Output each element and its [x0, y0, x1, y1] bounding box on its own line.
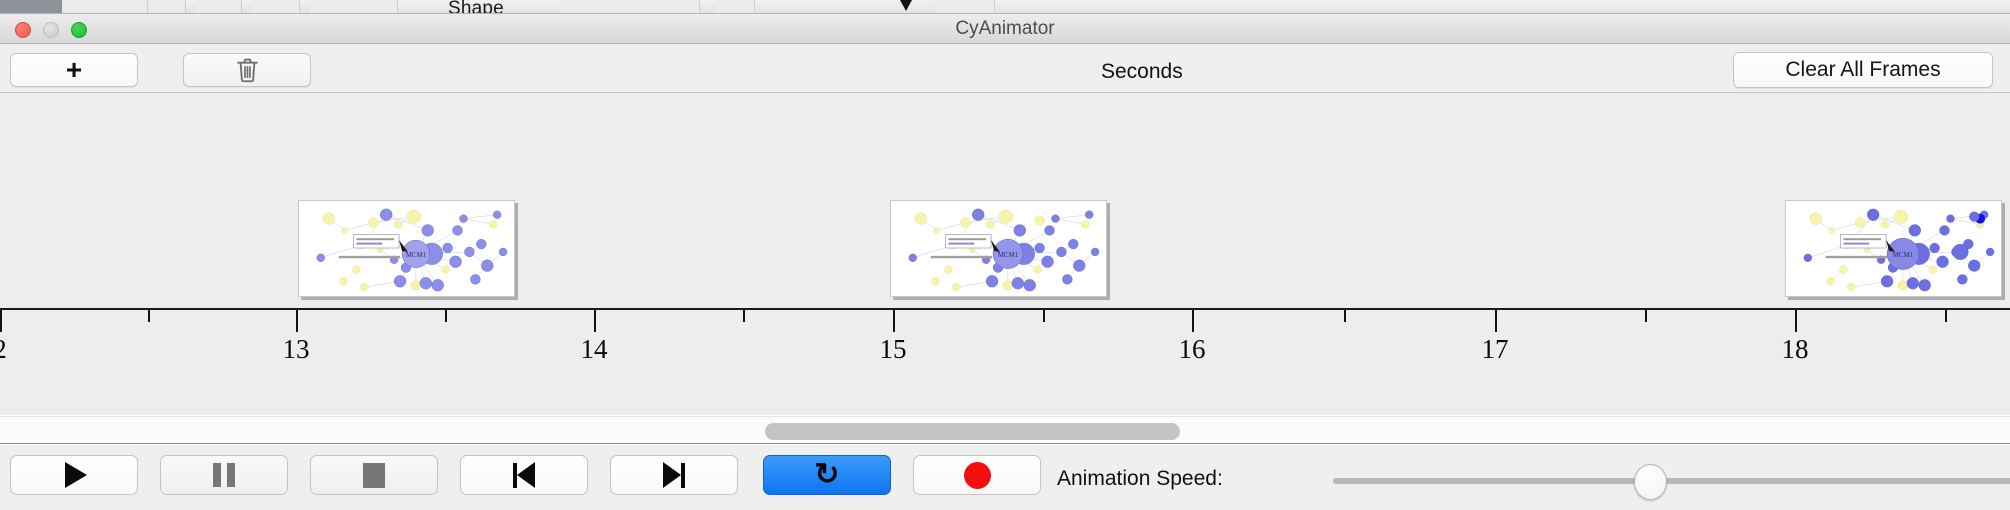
title-bar: CyAnimator — [0, 14, 2010, 44]
cyanimator-window: Shape CyAnimator + Clear All Frames MCM1… — [0, 0, 2010, 510]
ruler-tick — [1043, 310, 1045, 322]
ruler-tick — [893, 310, 895, 332]
background-window-title: Shape — [448, 0, 504, 14]
svg-text:MCM1: MCM1 — [998, 252, 1019, 259]
skip-back-icon — [513, 462, 535, 488]
toolbar: + Clear All Frames — [0, 44, 2010, 93]
stop-icon — [363, 463, 385, 488]
ruler-tick — [148, 310, 150, 322]
animation-speed-slider-thumb[interactable] — [1634, 464, 1667, 500]
window-title: CyAnimator — [0, 14, 2010, 44]
ruler-tick — [1192, 310, 1194, 332]
ruler-tick — [743, 310, 745, 322]
ruler-tick-label: 14 — [581, 334, 608, 365]
ruler-tick-label: 2 — [0, 334, 7, 365]
loop-icon: ↻ — [814, 460, 839, 490]
timeline-ruler[interactable]: 2131415161718 — [0, 310, 2010, 415]
animation-speed-label: Animation Speed: — [1057, 467, 1223, 491]
ruler-tick-label: 16 — [1179, 334, 1206, 365]
stop-button[interactable] — [310, 455, 438, 495]
record-button[interactable] — [913, 455, 1041, 495]
play-icon — [65, 462, 87, 488]
frame-thumbnail-2[interactable]: MCM1 — [890, 200, 1107, 297]
ruler-tick — [594, 310, 596, 332]
svg-text:MCM1: MCM1 — [406, 252, 427, 259]
frames-canvas[interactable]: MCM1 MCM1 MCM1 — [0, 93, 2010, 310]
previous-frame-button[interactable] — [460, 455, 588, 495]
next-frame-button[interactable] — [610, 455, 738, 495]
pause-button[interactable] — [160, 455, 288, 495]
record-icon — [964, 462, 991, 489]
loop-button[interactable]: ↻ — [763, 455, 891, 495]
frame-thumbnail-3[interactable]: MCM1 — [1785, 200, 2002, 297]
skip-forward-icon — [663, 462, 685, 488]
ruler-tick — [0, 310, 2, 332]
clear-all-frames-button[interactable]: Clear All Frames — [1733, 52, 1993, 88]
frame-thumbnail-1[interactable]: MCM1 — [298, 200, 515, 297]
clear-all-frames-label: Clear All Frames — [1785, 58, 1940, 82]
ruler-tick — [1495, 310, 1497, 332]
delete-frame-button[interactable] — [183, 53, 311, 87]
ruler-tick-label: 18 — [1782, 334, 1809, 365]
background-window-strip: Shape — [0, 0, 2010, 14]
play-button[interactable] — [10, 455, 138, 495]
svg-text:MCM1: MCM1 — [1893, 252, 1914, 259]
ruler-tick — [1945, 310, 1947, 322]
ruler-tick-label: 15 — [880, 334, 907, 365]
pause-icon — [213, 463, 235, 487]
ruler-tick-label: 17 — [1482, 334, 1509, 365]
ruler-tick — [1645, 310, 1647, 322]
ruler-tick — [1344, 310, 1346, 322]
add-frame-button[interactable]: + — [10, 53, 138, 87]
timeline-axis-label: Seconds — [1101, 60, 1183, 84]
animation-speed-slider-track[interactable] — [1333, 478, 2010, 484]
ruler-tick — [1795, 310, 1797, 332]
ruler-tick-label: 13 — [283, 334, 310, 365]
ruler-tick — [296, 310, 298, 332]
ruler-tick — [445, 310, 447, 322]
timeline-scrollbar-thumb[interactable] — [765, 423, 1180, 440]
timeline-scrollbar-track[interactable] — [0, 416, 2010, 444]
plus-icon: + — [66, 56, 82, 84]
trash-icon — [235, 56, 260, 84]
